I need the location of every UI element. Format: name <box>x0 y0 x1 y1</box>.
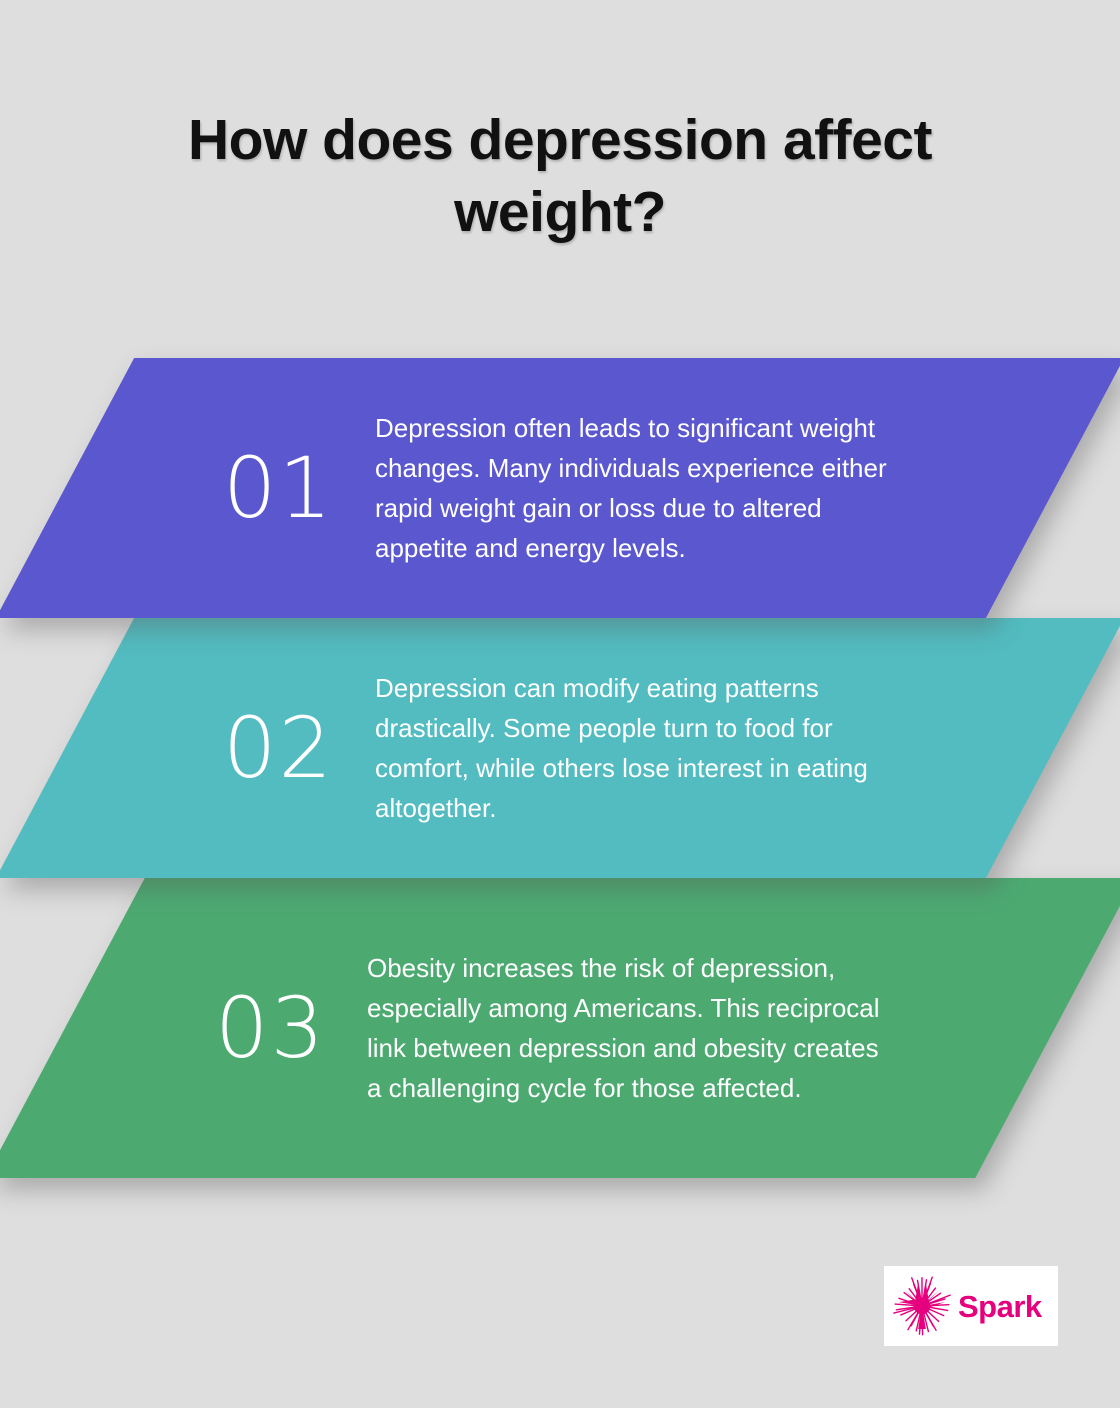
page-title-container: How does depression affect weight? <box>0 104 1120 248</box>
cards-stack: 01 Depression often leads to significant… <box>0 358 1120 1178</box>
info-card-03: 03 Obesity increases the risk of depress… <box>0 878 1120 1178</box>
info-card-02-number: 02 <box>223 706 375 790</box>
info-card-01-text: Depression often leads to significant we… <box>375 408 905 568</box>
info-card-02: 02 Depression can modify eating patterns… <box>0 618 1120 878</box>
info-card-01-inner: 01 Depression often leads to significant… <box>65 358 1055 618</box>
info-card-02-text: Depression can modify eating patterns dr… <box>375 668 905 828</box>
info-card-02-inner: 02 Depression can modify eating patterns… <box>65 618 1055 878</box>
info-card-03-inner: 03 Obesity increases the risk of depress… <box>65 878 1055 1178</box>
info-card-03-number: 03 <box>215 986 367 1070</box>
spark-wordmark: Spark <box>958 1291 1042 1322</box>
starburst-icon <box>890 1274 954 1338</box>
info-card-03-text: Obesity increases the risk of depression… <box>367 948 897 1108</box>
page-title: How does depression affect weight? <box>100 104 1020 248</box>
spark-logo: Spark <box>884 1266 1058 1346</box>
info-card-01-number: 01 <box>223 446 375 530</box>
info-card-01: 01 Depression often leads to significant… <box>0 358 1120 618</box>
